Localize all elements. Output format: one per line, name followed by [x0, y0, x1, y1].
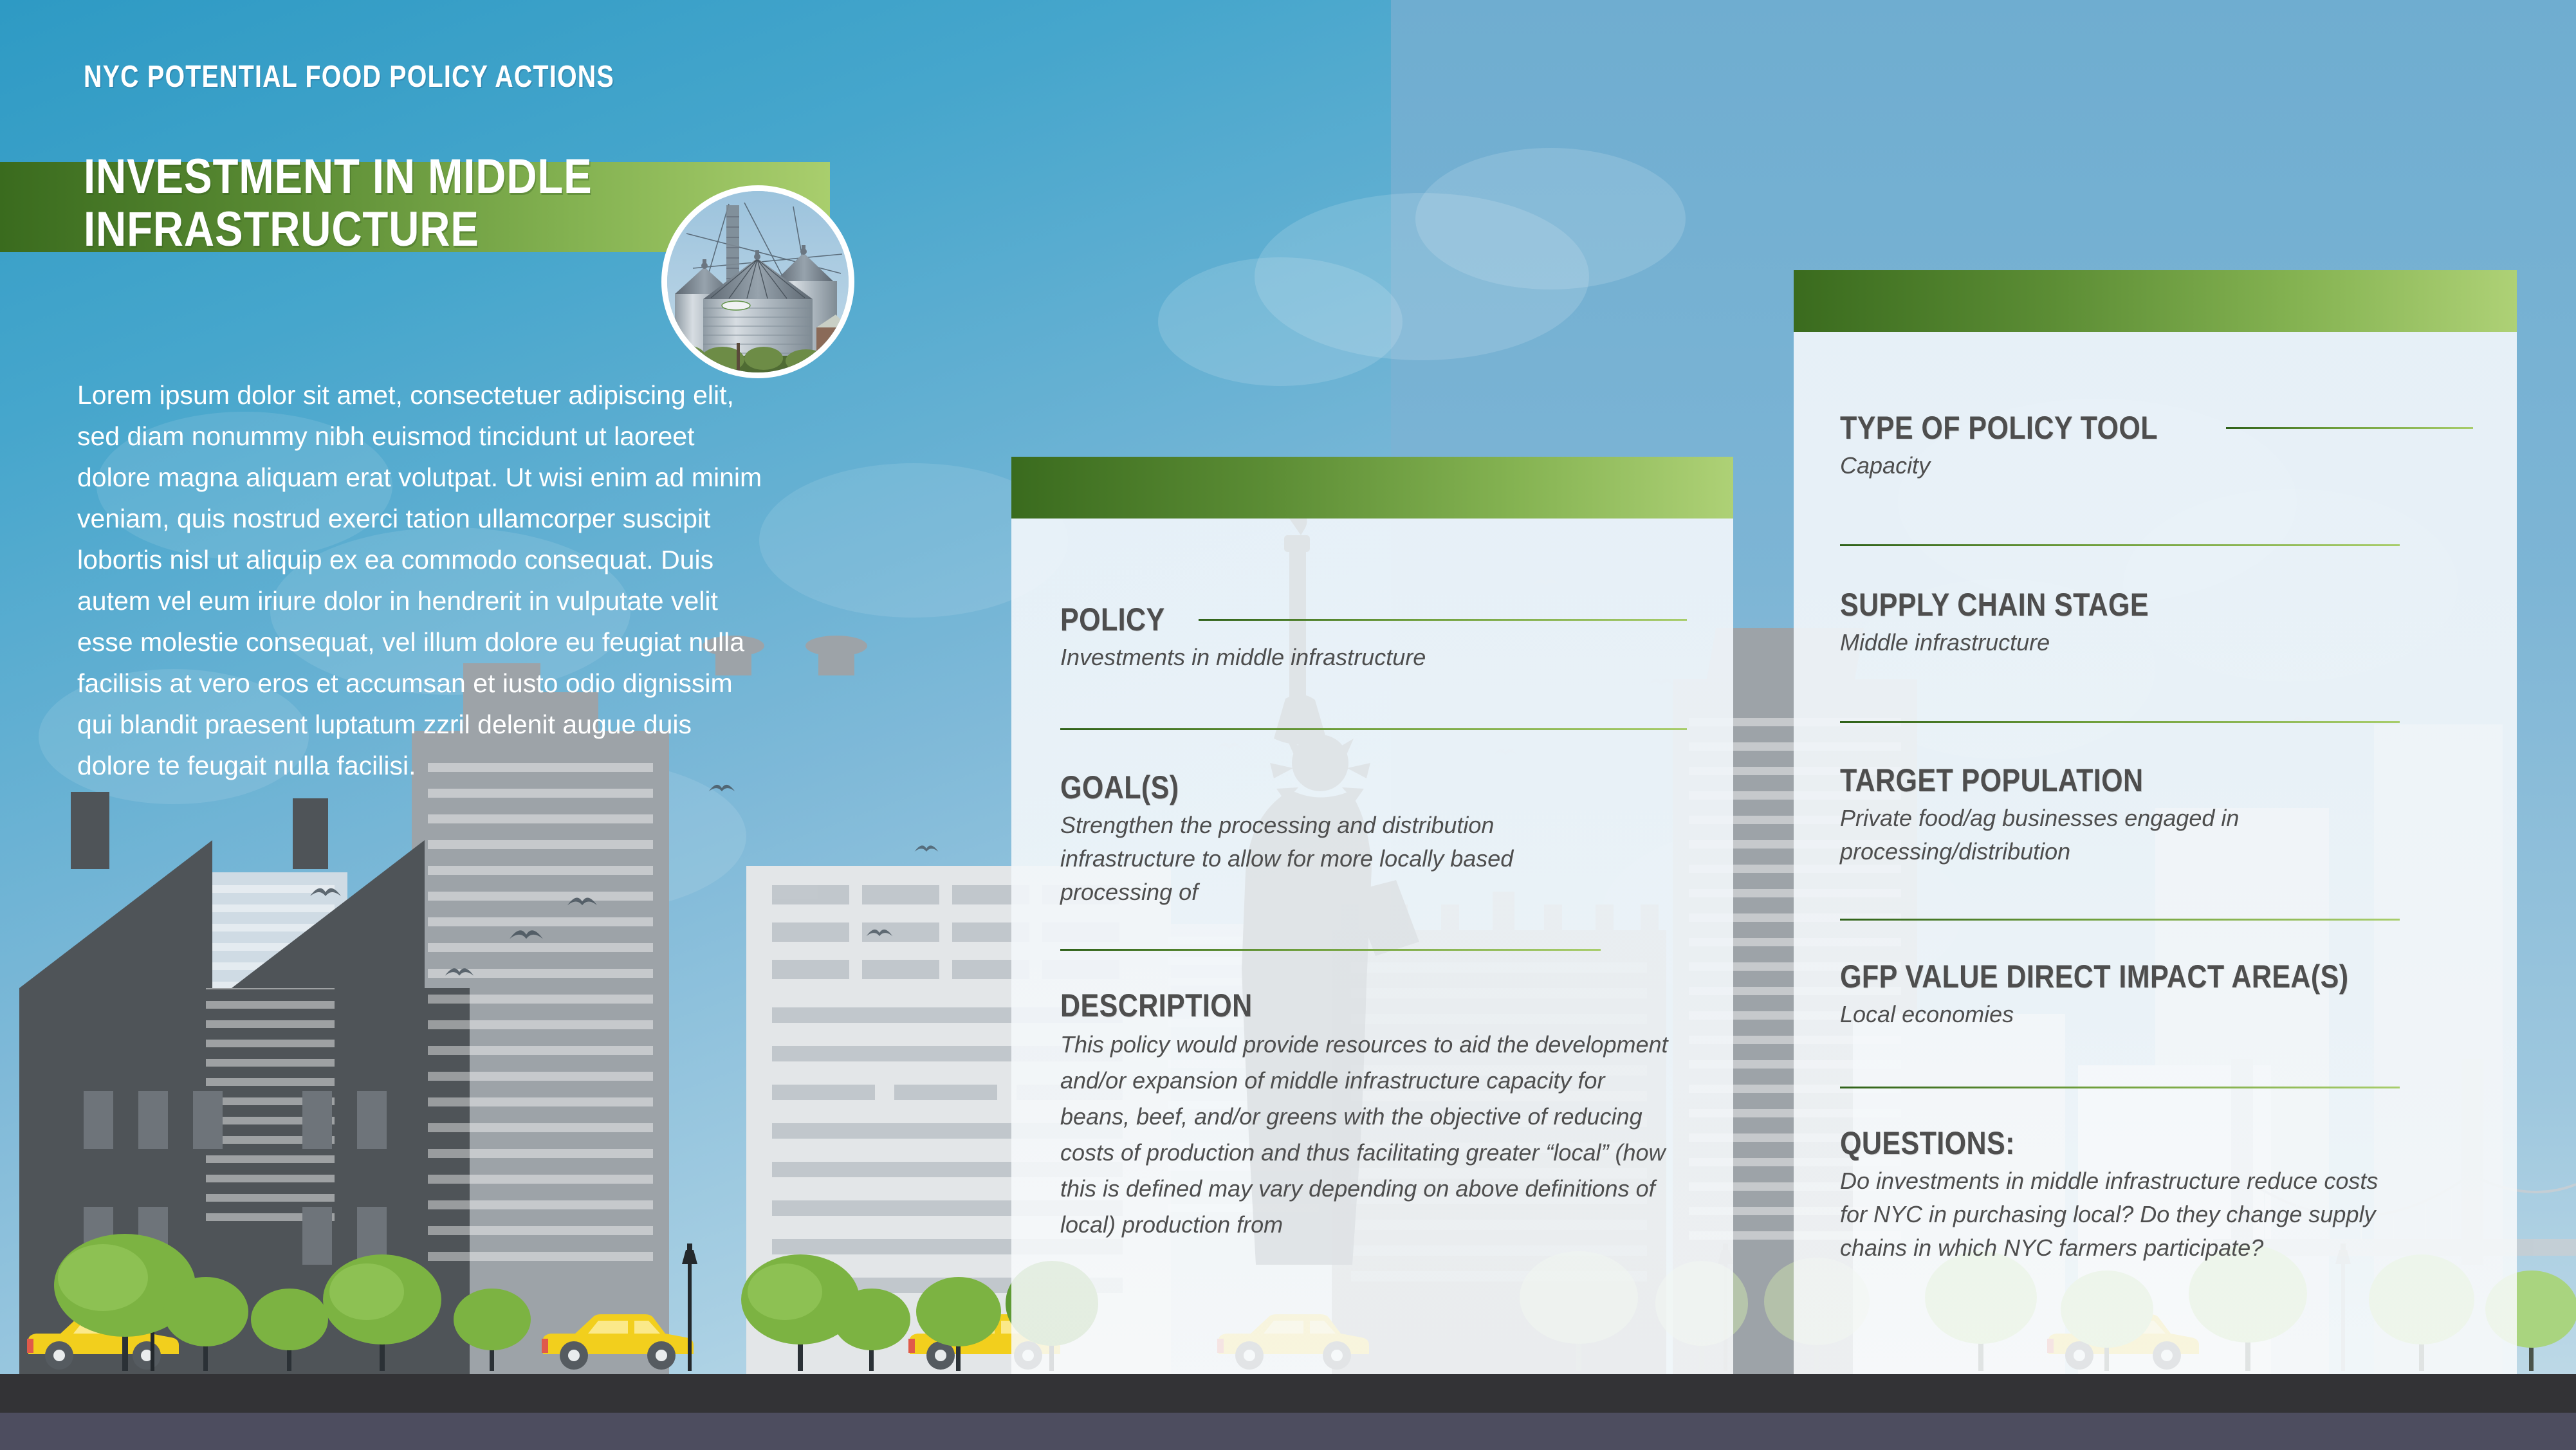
cloud-shape — [1415, 148, 1686, 289]
field-gfp-value-direct-impact-areas: GFP VALUE DIRECT IMPACT AREA(S) Local ec… — [1840, 958, 2473, 1031]
road-surface — [0, 1374, 2576, 1413]
card-header-bar — [1011, 457, 1733, 519]
field-header: TARGET POPULATION — [1840, 762, 2473, 799]
field-type-of-policy-tool: TYPE OF POLICY TOOL Capacity — [1840, 409, 2473, 482]
field-label: DESCRIPTION — [1060, 987, 1253, 1024]
field-separator — [1060, 949, 1601, 951]
field-label: GFP VALUE DIRECT IMPACT AREA(S) — [1840, 958, 2349, 995]
street-lamp — [676, 1242, 704, 1374]
field-goals: GOAL(S) Strengthen the processing and di… — [1060, 769, 1687, 909]
field-header: GOAL(S) — [1060, 769, 1687, 806]
field-separator — [1840, 1087, 2400, 1088]
field-value: Strengthen the processing and distributi… — [1060, 809, 1588, 909]
field-header: GFP VALUE DIRECT IMPACT AREA(S) — [1840, 958, 2473, 995]
street-tree — [322, 1252, 444, 1374]
field-label: TARGET POPULATION — [1840, 762, 2144, 799]
bird-icon — [914, 843, 939, 856]
field-value: Local economies — [1840, 998, 2473, 1031]
cloud-shape — [1158, 257, 1403, 386]
field-separator — [1840, 919, 2400, 921]
field-value: Do investments in middle infrastructure … — [1840, 1164, 2380, 1265]
field-separator — [1840, 721, 2400, 723]
page-kicker: NYC POTENTIAL FOOD POLICY ACTIONS — [84, 59, 614, 95]
field-header: DESCRIPTION — [1060, 987, 1687, 1024]
grain-silo-photo — [661, 185, 854, 378]
card-header-bar — [1794, 270, 2517, 332]
bird-icon — [865, 926, 894, 941]
bird-icon — [309, 885, 342, 901]
field-supply-chain-stage: SUPPLY CHAIN STAGE Middle infrastructure — [1840, 586, 2473, 659]
field-label: POLICY — [1060, 601, 1165, 638]
street-tree — [248, 1287, 331, 1374]
field-value: Capacity — [1840, 449, 2473, 482]
field-separator — [1840, 544, 2400, 546]
card-body: TYPE OF POLICY TOOL Capacity SUPPLY CHAI… — [1794, 332, 2517, 1374]
field-header: TYPE OF POLICY TOOL — [1840, 409, 2473, 446]
field-header: POLICY — [1060, 601, 1687, 638]
card-body: POLICY Investments in middle infrastruct… — [1011, 519, 1733, 1374]
field-header: SUPPLY CHAIN STAGE — [1840, 586, 2473, 623]
field-description: DESCRIPTION This policy would provide re… — [1060, 987, 1687, 1243]
field-value: This policy would provide resources to a… — [1060, 1027, 1671, 1243]
road-shadow-strip — [0, 1413, 2576, 1450]
field-rule — [2226, 427, 2473, 429]
field-value: Investments in middle infrastructure — [1060, 641, 1687, 674]
field-rule — [1199, 619, 1687, 621]
field-header: QUESTIONS: — [1840, 1124, 2473, 1162]
infographic-stage: NYC POTENTIAL FOOD POLICY ACTIONS INVEST… — [0, 0, 2576, 1450]
street-tree — [450, 1287, 534, 1374]
policy-card-middle: POLICY Investments in middle infrastruct… — [1011, 457, 1733, 1374]
policy-card-right: TYPE OF POLICY TOOL Capacity SUPPLY CHAI… — [1794, 270, 2517, 1374]
intro-paragraph: Lorem ipsum dolor sit amet, consectetuer… — [77, 374, 772, 786]
field-separator — [1060, 728, 1687, 730]
street-tree — [914, 1274, 1004, 1374]
field-label: QUESTIONS: — [1840, 1124, 2015, 1162]
field-label: GOAL(S) — [1060, 769, 1179, 806]
field-value: Middle infrastructure — [1840, 626, 2473, 659]
field-label: SUPPLY CHAIN STAGE — [1840, 586, 2149, 623]
field-target-population: TARGET POPULATION Private food/ag busine… — [1840, 762, 2473, 868]
bird-icon — [508, 926, 544, 944]
street-tree — [161, 1274, 251, 1374]
field-value: Private food/ag businesses engaged in pr… — [1840, 802, 2355, 868]
street-tree — [830, 1287, 914, 1374]
field-policy: POLICY Investments in middle infrastruct… — [1060, 601, 1687, 674]
field-questions: QUESTIONS: Do investments in middle infr… — [1840, 1124, 2473, 1265]
field-label: TYPE OF POLICY TOOL — [1840, 409, 2158, 446]
page-title: INVESTMENT IN MIDDLE INFRASTRUCTURE — [84, 151, 637, 256]
bird-icon — [566, 894, 598, 910]
bird-icon — [444, 965, 475, 980]
